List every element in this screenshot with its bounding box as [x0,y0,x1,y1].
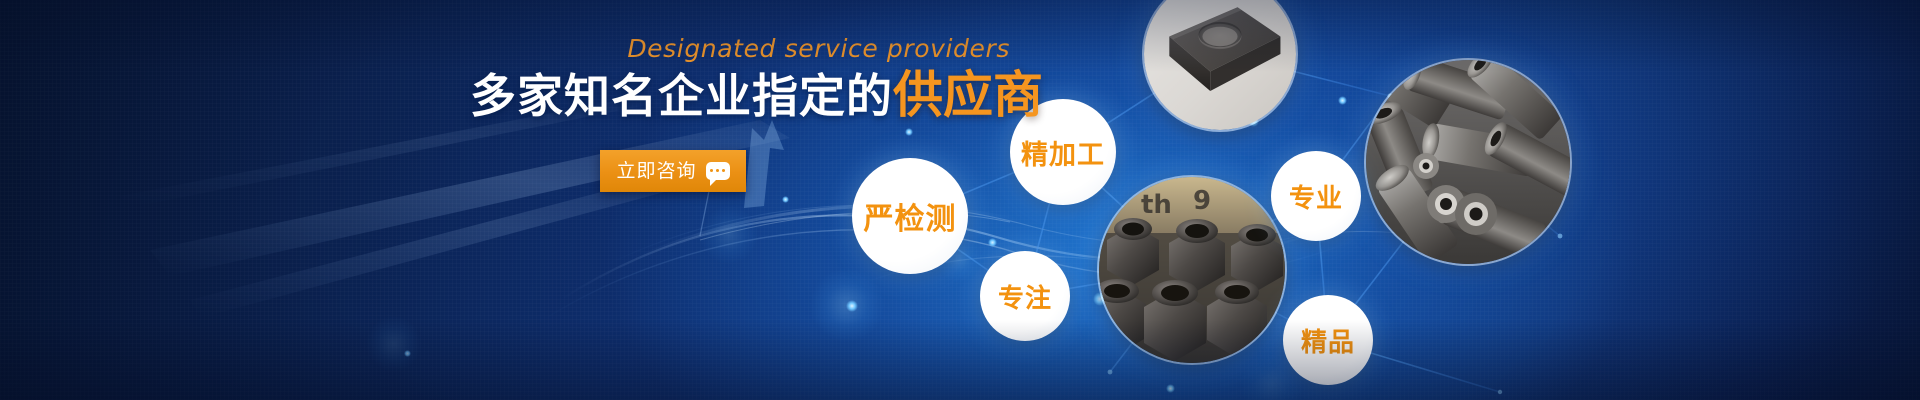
svg-text:9: 9 [1193,186,1211,216]
feature-circle-label: 专业 [1289,178,1343,215]
steel-tube-couplers-illustration [1364,58,1572,266]
square-plate-washer-illustration [1142,0,1298,132]
sparkle-dot [1166,384,1175,393]
feature-circle-yan-jian-ce[interactable]: 严检测 [852,158,968,274]
promo-banner: 方形垫板 th9 [0,0,1920,400]
bokeh-dot [810,268,884,342]
product-photo-square-plate-washer[interactable]: 方形垫板 [1142,0,1298,132]
consult-now-button[interactable]: 立即咨询 [600,150,746,192]
feature-circle-label: 严检测 [864,194,957,238]
product-photo-steel-tube-couplers[interactable]: 钢管套筒 [1364,58,1572,266]
hex-coupling-nuts-illustration: th9 [1097,175,1287,365]
feature-circle-label: 专注 [998,278,1052,315]
feature-circle-zhuan-zhu[interactable]: 专注 [980,251,1070,341]
bokeh-dot [366,316,422,372]
product-photo-hex-coupling-nuts[interactable]: th9 [1097,175,1287,365]
svg-text:th: th [1141,190,1172,220]
speech-bubble-icon [706,162,730,180]
hero-headline-white: 多家知名企业指定的 [470,70,893,122]
sparkle-dot [846,300,858,312]
feature-circle-jing-pin[interactable]: 精品 [1283,295,1373,385]
feature-circle-zhuan-ye[interactable]: 专业 [1271,151,1361,241]
sparkle-dot [404,350,411,357]
sparkle-dot [1338,96,1347,105]
hero-text-block: Designated service providers 多家知名企业指定的供应… [470,36,1010,120]
bokeh-dot [700,206,758,264]
sparkle-dot [988,238,997,247]
consult-now-label: 立即咨询 [616,162,696,181]
hero-eyebrow: Designated service providers [470,36,1010,61]
hero-headline-orange: 供应商 [893,67,1043,123]
sparkle-dot [905,128,913,136]
feature-circle-label: 精加工 [1021,133,1105,172]
feature-circle-label: 精品 [1301,322,1355,359]
hero-headline: 多家知名企业指定的供应商 [470,70,1010,120]
sparkle-dot [782,196,789,203]
